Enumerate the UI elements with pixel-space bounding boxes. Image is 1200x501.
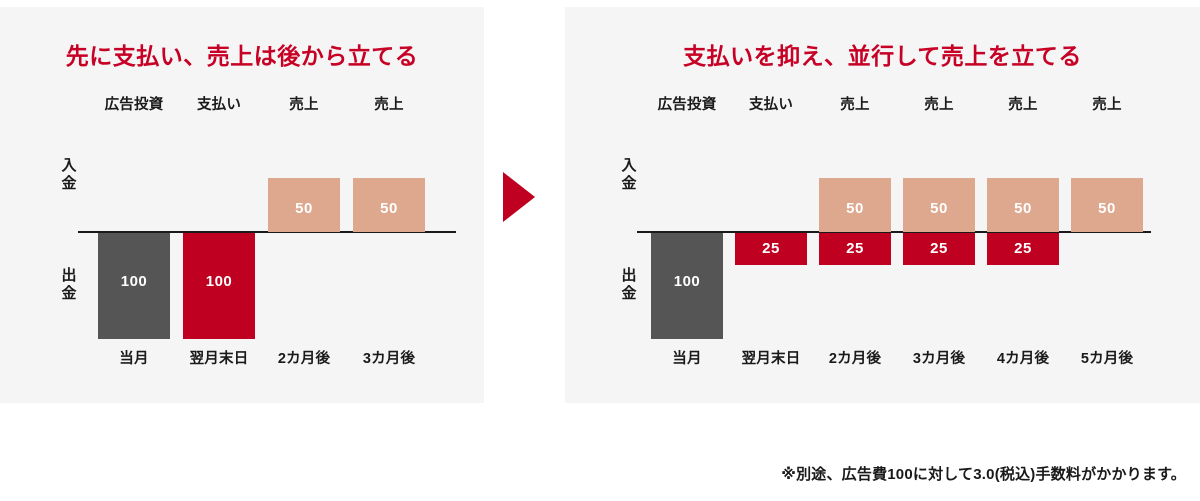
column-header-3: 売上 xyxy=(256,93,352,114)
column-footer-2: 翌月末日 xyxy=(171,347,267,368)
chart-column-4: 売上 50 3カ月後 xyxy=(341,7,437,403)
chart-column-3: 売上 50 25 2カ月後 xyxy=(813,7,897,403)
bar-outflow-payment: 100 xyxy=(183,233,255,339)
chart-column-2: 支払い 25 翌月末日 xyxy=(729,7,813,403)
bar-inflow-sales: 50 xyxy=(353,178,425,232)
column-footer-1: 当月 xyxy=(645,347,729,368)
bar-outflow-payment: 25 xyxy=(735,233,807,265)
bar-inflow-sales: 50 xyxy=(1071,178,1143,232)
column-header-2: 支払い xyxy=(171,93,267,114)
bar-outflow-payment: 25 xyxy=(819,233,891,265)
column-footer-6: 5カ月後 xyxy=(1065,347,1149,368)
column-footer-2: 翌月末日 xyxy=(729,347,813,368)
bar-outflow-payment: 25 xyxy=(987,233,1059,265)
axis-label-outflow: 出金 xyxy=(58,267,80,304)
chart-column-2: 支払い 100 翌月末日 xyxy=(171,7,267,403)
bar-value-label: 25 xyxy=(819,240,891,257)
panel-after: 支払いを抑え、並行して売上を立てる 入金 出金 広告投資 100 当月 支払い … xyxy=(565,7,1200,403)
bar-value-label: 100 xyxy=(98,273,170,290)
bar-value-label: 50 xyxy=(1071,200,1143,217)
column-header-5: 売上 xyxy=(981,93,1065,114)
bar-inflow-sales: 50 xyxy=(819,178,891,232)
bar-inflow-sales: 50 xyxy=(903,178,975,232)
column-footer-4: 3カ月後 xyxy=(341,347,437,368)
bar-value-label: 100 xyxy=(183,273,255,290)
panel-before: 先に支払い、売上は後から立てる 入金 出金 広告投資 100 当月 支払い 10… xyxy=(0,7,484,403)
axis-label-inflow: 入金 xyxy=(618,157,640,194)
chart-column-1: 広告投資 100 当月 xyxy=(645,7,729,403)
column-footer-4: 3カ月後 xyxy=(897,347,981,368)
column-header-2: 支払い xyxy=(729,93,813,114)
bar-outflow-investment: 100 xyxy=(98,233,170,339)
column-header-4: 売上 xyxy=(341,93,437,114)
bar-value-label: 25 xyxy=(735,240,807,257)
column-footer-5: 4カ月後 xyxy=(981,347,1065,368)
chart-before: 入金 出金 広告投資 100 当月 支払い 100 翌月末日 売上 50 2カ月… xyxy=(0,7,484,403)
column-footer-3: 2カ月後 xyxy=(256,347,352,368)
bar-value-label: 50 xyxy=(987,200,1059,217)
bar-outflow-investment: 100 xyxy=(651,233,723,339)
chart-column-1: 広告投資 100 当月 xyxy=(86,7,182,403)
axis-label-outflow: 出金 xyxy=(618,267,640,304)
chart-after: 入金 出金 広告投資 100 当月 支払い 25 翌月末日 売上 50 xyxy=(565,7,1200,403)
bar-outflow-payment: 25 xyxy=(903,233,975,265)
bar-value-label: 50 xyxy=(903,200,975,217)
column-header-1: 広告投資 xyxy=(645,93,729,114)
chart-column-6: 売上 50 5カ月後 xyxy=(1065,7,1149,403)
bar-value-label: 50 xyxy=(268,200,340,217)
bar-value-label: 25 xyxy=(987,240,1059,257)
bar-value-label: 50 xyxy=(353,200,425,217)
bar-inflow-sales: 50 xyxy=(987,178,1059,232)
column-footer-3: 2カ月後 xyxy=(813,347,897,368)
column-header-1: 広告投資 xyxy=(86,93,182,114)
bar-value-label: 25 xyxy=(903,240,975,257)
bar-value-label: 100 xyxy=(651,273,723,290)
column-header-3: 売上 xyxy=(813,93,897,114)
footnote-text: ※別途、広告費100に対して3.0(税込)手数料がかかります。 xyxy=(0,463,1186,484)
chart-column-3: 売上 50 2カ月後 xyxy=(256,7,352,403)
column-header-6: 売上 xyxy=(1065,93,1149,114)
chart-column-4: 売上 50 25 3カ月後 xyxy=(897,7,981,403)
bar-value-label: 50 xyxy=(819,200,891,217)
axis-label-inflow: 入金 xyxy=(58,157,80,194)
flow-arrow-right-icon xyxy=(503,172,535,222)
column-header-4: 売上 xyxy=(897,93,981,114)
chart-column-5: 売上 50 25 4カ月後 xyxy=(981,7,1065,403)
column-footer-1: 当月 xyxy=(86,347,182,368)
bar-inflow-sales: 50 xyxy=(268,178,340,232)
